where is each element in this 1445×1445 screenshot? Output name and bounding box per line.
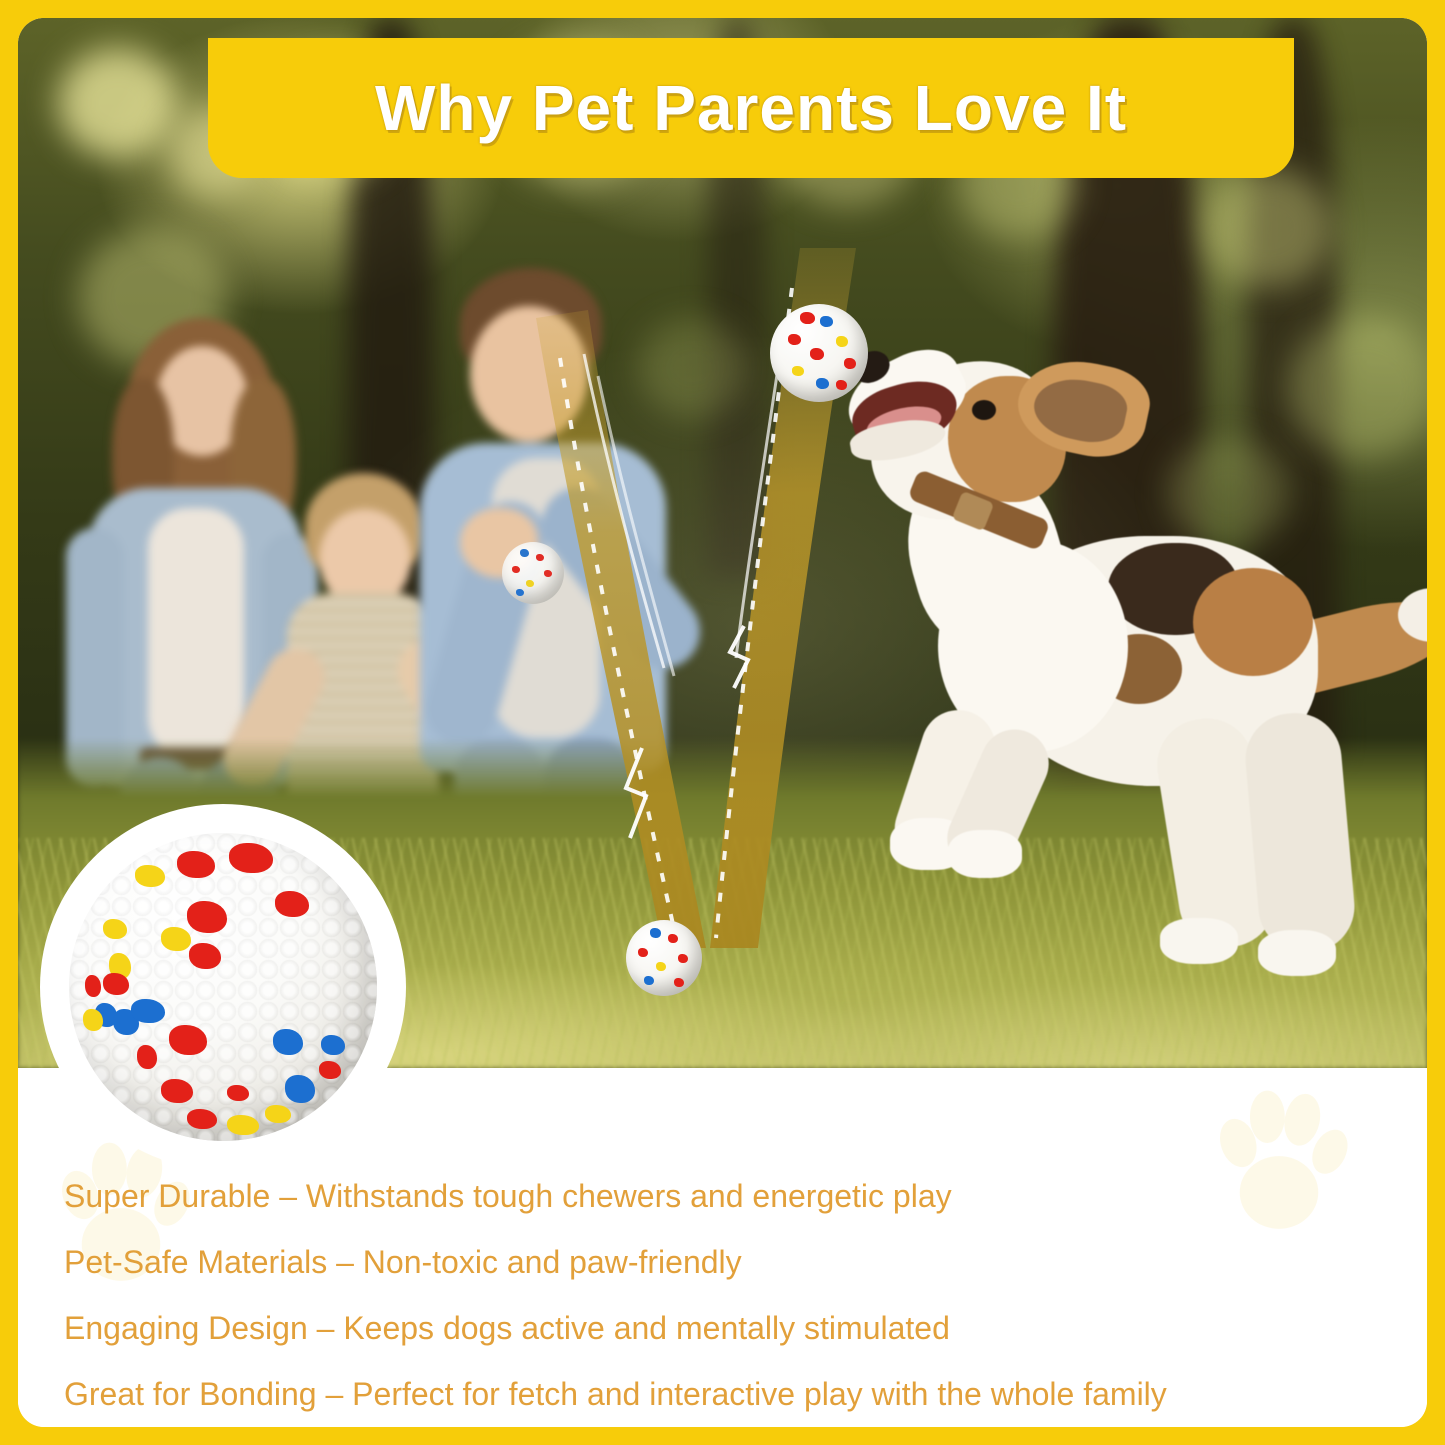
ball-speckle (229, 843, 273, 873)
ball-speckle (520, 549, 529, 557)
ball-speckle (836, 380, 847, 390)
ball-speckle (137, 1045, 157, 1069)
ball-speckle (544, 570, 552, 577)
ball-speckle (526, 580, 534, 587)
ball-speckle (161, 927, 191, 951)
ball-speckle (187, 901, 227, 933)
feature-item: Engaging Design – Keeps dogs active and … (64, 1312, 1427, 1344)
feature-item: Pet-Safe Materials – Non-toxic and paw-f… (64, 1246, 1427, 1278)
feature-item: Great for Bonding – Perfect for fetch an… (64, 1378, 1427, 1410)
inner-top (148, 508, 244, 758)
ball-speckle (189, 943, 221, 969)
dog-eye (972, 400, 996, 420)
ball-speckle (650, 928, 661, 938)
ball-speckle (816, 378, 829, 389)
ball-speckle (836, 336, 848, 347)
page-title: Why Pet Parents Love It (375, 71, 1127, 145)
ball-speckle (800, 312, 815, 324)
ball-speckle (512, 566, 520, 573)
ball-speckle (275, 891, 309, 917)
ball-speckle (792, 366, 804, 376)
feature-list: Super Durable – Withstands tough chewers… (18, 1073, 1427, 1410)
bounce-trail (448, 248, 968, 1048)
ball-speckle (516, 589, 524, 596)
ball-speckle (644, 976, 654, 985)
content-card: Super Durable – Withstands tough chewers… (18, 18, 1427, 1427)
ball-speckle (678, 954, 688, 963)
ball-speckle (103, 919, 127, 939)
dog-patch-brown (1193, 568, 1313, 676)
ball-speckle (85, 975, 101, 997)
features-section: Super Durable – Withstands tough chewers… (18, 1073, 1427, 1427)
ball-speckle (810, 348, 824, 360)
dog-hind-paw (1258, 930, 1336, 976)
ball-speckle (674, 978, 684, 987)
ball-in-air-top (770, 304, 868, 402)
trail-left-arc (536, 310, 706, 948)
ball-speckle (169, 1025, 207, 1055)
ball-speckle (668, 934, 678, 943)
ball-speckle (103, 973, 129, 995)
ball-speckle (273, 1029, 303, 1055)
title-banner: Why Pet Parents Love It (208, 38, 1294, 178)
feature-item: Super Durable – Withstands tough chewers… (64, 1180, 1427, 1212)
dog-hind-paw (1160, 918, 1238, 964)
ball-speckle (536, 554, 544, 561)
ball-speckle (656, 962, 666, 971)
ball-bouncing (626, 920, 702, 996)
ball-speckle (177, 851, 215, 878)
ball-speckle (788, 334, 801, 345)
ball-speckle (844, 358, 856, 369)
infographic-page: Super Durable – Withstands tough chewers… (0, 0, 1445, 1445)
ball-speckle (135, 865, 165, 887)
ball-speckle (638, 948, 648, 957)
ball-speckle (820, 316, 833, 327)
ball-in-air-mid (502, 542, 564, 604)
ball-speckle (321, 1035, 345, 1055)
ball-speckle (83, 1009, 103, 1031)
ball-speckle (131, 999, 165, 1023)
